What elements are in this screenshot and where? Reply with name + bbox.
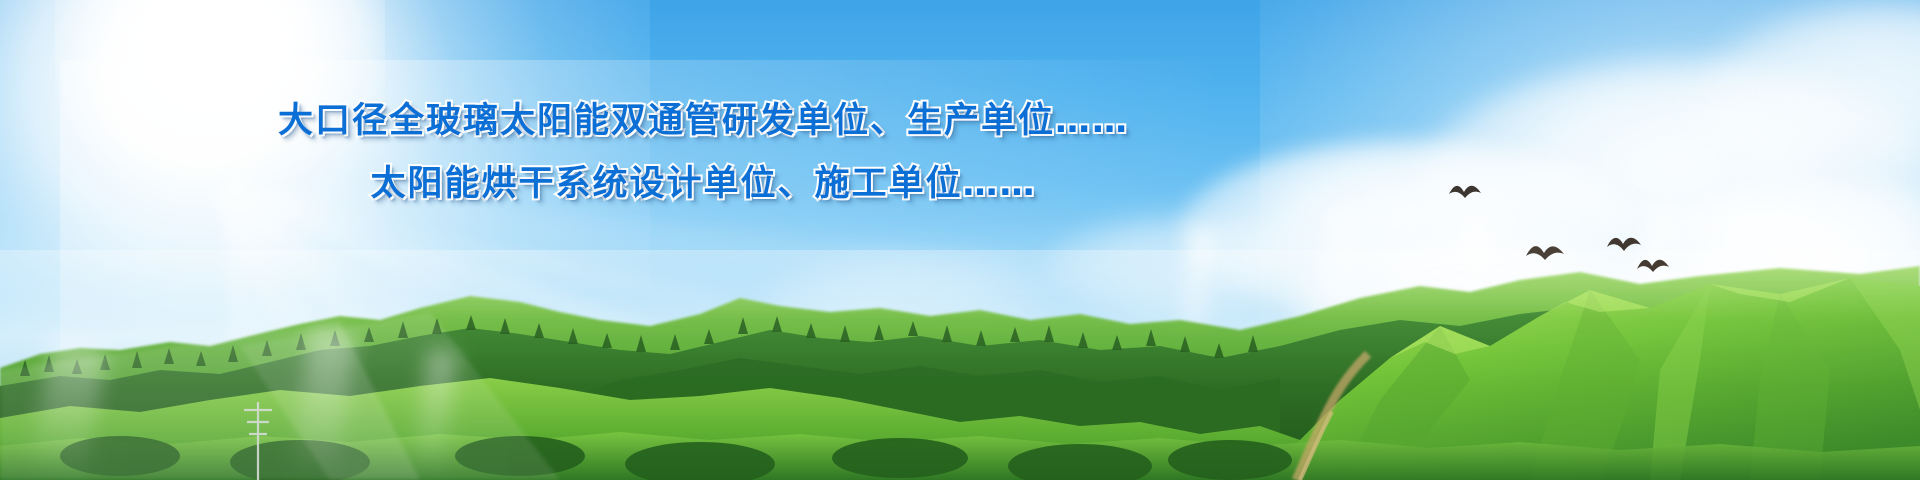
headline-line-2-text: 太阳能烘干系统设计单位、施工单位……: [370, 163, 1036, 205]
headline-line-1-text: 大口径全玻璃太阳能双通管研发单位、生产单位……: [278, 100, 1129, 142]
hero-banner: 大口径全玻璃太阳能双通管研发单位、生产单位…… 太阳能烘干系统设计单位、施工单位…: [0, 0, 1920, 480]
headline-line-2: 太阳能烘干系统设计单位、施工单位……: [0, 163, 1407, 205]
headline-line-1: 大口径全玻璃太阳能双通管研发单位、生产单位……: [0, 100, 1407, 142]
sun-core-icon: [55, 0, 385, 180]
bird-icon: [1525, 240, 1565, 270]
green-hills-icon: [0, 250, 1920, 480]
bird-icon: [1448, 181, 1482, 207]
cloud-icon: [1700, 0, 1920, 200]
bird-icon: [1636, 255, 1670, 281]
